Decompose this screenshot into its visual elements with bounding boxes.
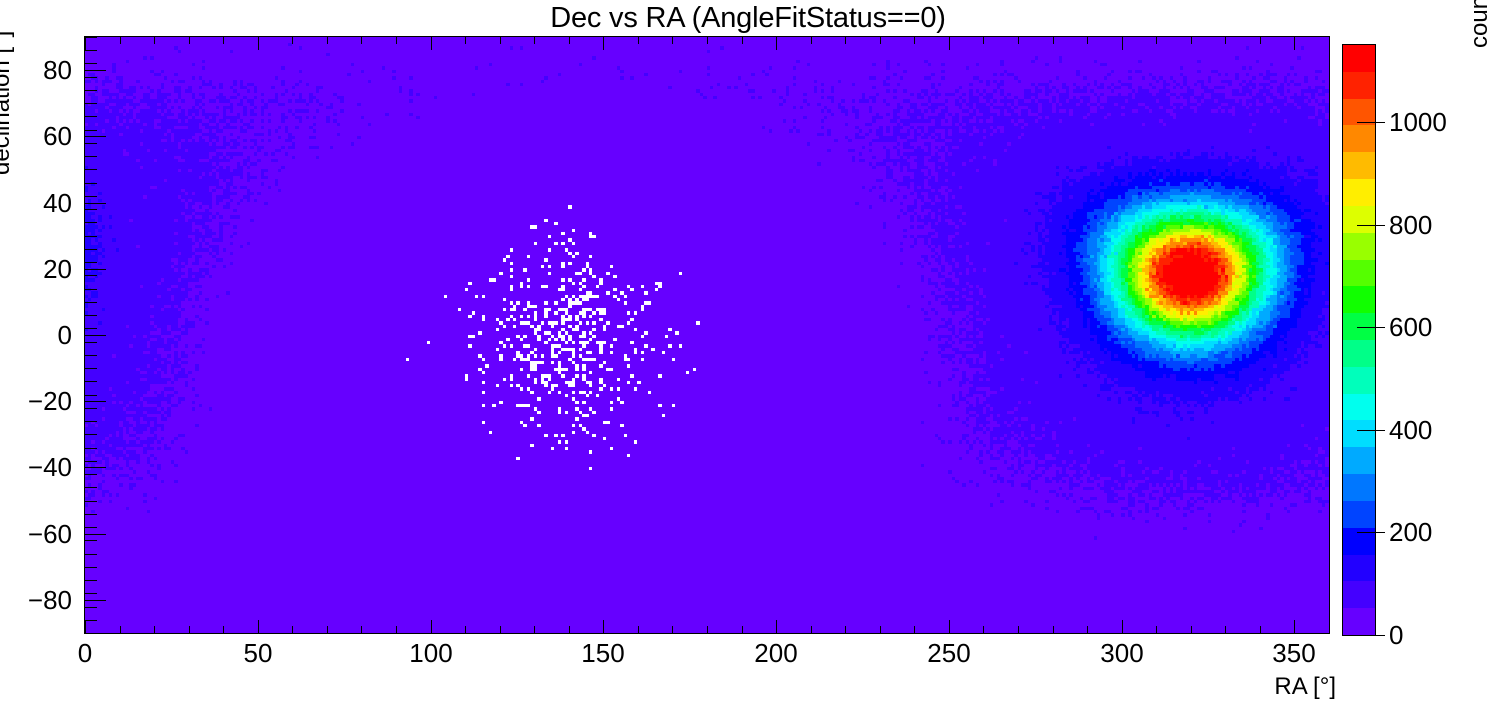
y-minor-tick [85,169,97,170]
x-major-tick [258,620,259,633]
histogram-frame [84,36,1330,634]
y-minor-tick [85,236,97,237]
x-major-tick-top [776,37,777,50]
x-minor-tick [189,626,190,633]
x-minor-tick-top [1225,37,1226,44]
x-minor-tick-top [292,37,293,44]
x-minor-tick-top [742,37,743,44]
x-minor-tick [534,626,535,633]
x-tick-label: 100 [409,640,452,666]
x-minor-tick [707,626,708,633]
x-major-tick-top [949,37,950,50]
color-scale-tick [1357,327,1385,328]
color-scale-label: 600 [1389,314,1432,340]
x-minor-tick [1053,626,1054,633]
y-minor-tick [85,249,97,250]
heatmap-canvas [85,37,1329,633]
y-tick-label: 40 [14,190,72,216]
y-minor-tick [85,593,97,594]
x-minor-tick-top [1018,37,1019,44]
y-minor-tick [85,143,97,144]
x-minor-tick [569,626,570,633]
x-minor-tick [1018,626,1019,633]
y-minor-tick [85,633,97,634]
color-band [1343,233,1375,260]
x-minor-tick-top [120,37,121,44]
x-tick-label: 50 [244,640,273,666]
color-scale-tick [1357,225,1385,226]
x-minor-tick-top [534,37,535,44]
x-major-tick [85,620,86,633]
y-minor-tick [85,461,97,462]
color-band [1343,72,1375,99]
y-tick-label: 60 [14,123,72,149]
y-minor-tick [85,501,97,502]
y-major-tick [85,269,106,270]
x-minor-tick-top [1156,37,1157,44]
y-major-tick [85,534,106,535]
x-minor-tick [983,626,984,633]
y-minor-tick [85,607,97,608]
y-axis-title: declination [°] [0,31,16,175]
y-minor-tick [85,315,97,316]
color-band [1343,286,1375,313]
y-minor-tick [85,50,97,51]
x-major-tick-top [1122,37,1123,50]
y-minor-tick [85,196,97,197]
x-minor-tick [845,626,846,633]
x-axis-title: RA [°] [1274,673,1336,701]
x-minor-tick-top [1260,37,1261,44]
x-minor-tick [500,626,501,633]
y-minor-tick [85,209,97,210]
y-minor-tick [85,421,97,422]
y-minor-tick [85,90,97,91]
y-minor-tick [85,434,97,435]
y-minor-tick [85,514,97,515]
x-minor-tick-top [189,37,190,44]
color-band [1343,608,1375,635]
x-minor-tick [1329,626,1330,633]
y-minor-tick [85,567,97,568]
x-minor-tick [361,626,362,633]
color-band [1343,581,1375,608]
x-major-tick-top [85,37,86,50]
y-tick-label: 20 [14,256,72,282]
y-tick-label: 0 [14,322,72,348]
color-scale-tick [1357,532,1385,533]
x-minor-tick [396,626,397,633]
y-minor-tick [85,620,97,621]
x-minor-tick [914,626,915,633]
y-minor-tick [85,328,97,329]
color-scale-tick [1357,635,1385,636]
color-band [1343,474,1375,501]
y-minor-tick [85,487,97,488]
y-minor-tick [85,222,97,223]
x-minor-tick-top [396,37,397,44]
x-minor-tick [154,626,155,633]
x-minor-tick-top [1053,37,1054,44]
y-minor-tick [85,37,97,38]
color-band [1343,340,1375,367]
x-minor-tick-top [154,37,155,44]
x-minor-tick-top [1329,37,1330,44]
x-tick-label: 350 [1272,640,1315,666]
x-minor-tick [1087,626,1088,633]
color-scale-tick [1357,122,1385,123]
color-scale-label: 400 [1389,417,1432,443]
y-minor-tick [85,63,97,64]
x-minor-tick-top [638,37,639,44]
color-scale-label: 800 [1389,212,1432,238]
x-tick-label: 150 [581,640,624,666]
y-minor-tick [85,527,97,528]
x-minor-tick-top [672,37,673,44]
y-minor-tick [85,342,97,343]
color-scale-label: 200 [1389,519,1432,545]
y-minor-tick [85,408,97,409]
x-major-tick-top [603,37,604,50]
x-major-tick-top [1294,37,1295,50]
y-minor-tick [85,395,97,396]
color-band [1343,206,1375,233]
x-major-tick [1294,620,1295,633]
x-minor-tick-top [223,37,224,44]
y-minor-tick [85,116,97,117]
color-band [1343,367,1375,394]
color-scale-label: 0 [1389,622,1403,648]
color-band [1343,125,1375,152]
x-minor-tick [292,626,293,633]
x-minor-tick [465,626,466,633]
x-major-tick [1122,620,1123,633]
x-minor-tick [1225,626,1226,633]
y-tick-label: −20 [14,388,72,414]
x-minor-tick-top [811,37,812,44]
color-band [1343,447,1375,474]
x-major-tick [776,620,777,633]
x-minor-tick-top [880,37,881,44]
y-minor-tick [85,130,97,131]
x-minor-tick [223,626,224,633]
x-tick-label: 250 [927,640,970,666]
x-minor-tick [742,626,743,633]
x-minor-tick [120,626,121,633]
y-minor-tick [85,474,97,475]
x-minor-tick-top [500,37,501,44]
x-major-tick [603,620,604,633]
x-tick-label: 0 [78,640,92,666]
x-major-tick-top [431,37,432,50]
x-minor-tick [672,626,673,633]
y-tick-label: −80 [14,587,72,613]
plot-canvas-root: Dec vs RA (AngleFitStatus==0) RA [°] dec… [0,0,1496,722]
y-tick-label: 80 [14,57,72,83]
y-minor-tick [85,554,97,555]
x-minor-tick [811,626,812,633]
y-minor-tick [85,77,97,78]
x-minor-tick-top [361,37,362,44]
y-major-tick [85,203,106,204]
y-major-tick [85,136,106,137]
y-major-tick [85,335,106,336]
color-band [1343,501,1375,528]
y-minor-tick [85,275,97,276]
x-minor-tick-top [1087,37,1088,44]
x-minor-tick-top [569,37,570,44]
y-minor-tick [85,103,97,104]
y-minor-tick [85,156,97,157]
y-minor-tick [85,302,97,303]
x-minor-tick-top [914,37,915,44]
y-major-tick [85,70,106,71]
x-minor-tick [1156,626,1157,633]
y-minor-tick [85,289,97,290]
x-major-tick [949,620,950,633]
y-minor-tick [85,368,97,369]
color-scale-bar [1342,44,1376,636]
x-minor-tick-top [1191,37,1192,44]
color-scale-title: count [1466,0,1494,48]
y-major-tick [85,600,106,601]
x-minor-tick-top [327,37,328,44]
x-minor-tick-top [707,37,708,44]
color-band [1343,152,1375,179]
x-minor-tick [638,626,639,633]
x-major-tick-top [258,37,259,50]
color-scale-tick [1357,430,1385,431]
y-minor-tick [85,262,97,263]
color-band [1343,260,1375,286]
y-minor-tick [85,580,97,581]
y-minor-tick [85,540,97,541]
x-tick-label: 300 [1100,640,1143,666]
y-major-tick [85,401,106,402]
color-band [1343,394,1375,420]
x-tick-label: 200 [754,640,797,666]
x-minor-tick [1191,626,1192,633]
y-minor-tick [85,381,97,382]
color-band [1343,179,1375,206]
y-major-tick [85,467,106,468]
x-minor-tick-top [845,37,846,44]
y-tick-label: −60 [14,521,72,547]
color-band [1343,420,1375,447]
color-band [1343,45,1375,72]
x-minor-tick-top [983,37,984,44]
x-major-tick [431,620,432,633]
color-band [1343,555,1375,581]
y-tick-label: −40 [14,454,72,480]
x-minor-tick [1260,626,1261,633]
y-minor-tick [85,355,97,356]
y-minor-tick [85,183,97,184]
x-minor-tick [880,626,881,633]
color-scale-label: 1000 [1389,109,1447,135]
x-minor-tick [327,626,328,633]
y-minor-tick [85,448,97,449]
page-title: Dec vs RA (AngleFitStatus==0) [0,2,1496,35]
x-minor-tick-top [465,37,466,44]
